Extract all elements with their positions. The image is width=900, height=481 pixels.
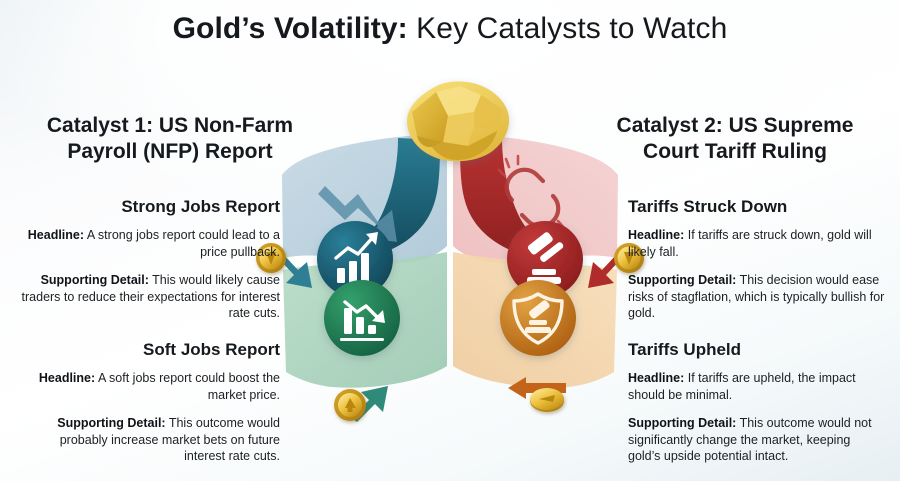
page-title-bold: Gold’s Volatility: (173, 12, 408, 45)
tariffs-struck-down-subheading: Tariffs Struck Down (628, 196, 886, 218)
catalyst-2-heading-line1: Catalyst 2: US Supreme (585, 113, 885, 139)
catalyst-1-heading-line1: Catalyst 1: US Non-Farm (20, 113, 320, 139)
strong-jobs-headline: Headline: A strong jobs report could lea… (18, 227, 280, 260)
strong-jobs-detail-label: Supporting Detail: (41, 273, 149, 287)
gold-nugget (407, 81, 509, 161)
branch-strong-jobs-text: Strong Jobs Report Headline: A strong jo… (18, 196, 280, 334)
strong-jobs-headline-label: Headline: (28, 228, 84, 242)
catalyst-1-heading-line2: Payroll (NFP) Report (20, 139, 320, 165)
coin-flat-right[interactable] (530, 388, 564, 412)
soft-jobs-headline: Headline: A soft jobs report could boost… (18, 370, 280, 403)
icon-circle-tariffs-upheld[interactable] (500, 280, 576, 356)
tariffs-upheld-detail: Supporting Detail: This outcome would no… (628, 415, 886, 465)
tariffs-upheld-headline: Headline: If tariffs are upheld, the imp… (628, 370, 886, 403)
branch-tariffs-struck-down-text: Tariffs Struck Down Headline: If tariffs… (628, 196, 886, 334)
catalyst-1-heading: Catalyst 1: US Non-Farm Payroll (NFP) Re… (20, 113, 320, 165)
catalyst-2-heading-line2: Court Tariff Ruling (585, 139, 885, 165)
branch-tariffs-upheld-text: Tariffs Upheld Headline: If tariffs are … (628, 339, 886, 477)
soft-jobs-detail-label: Supporting Detail: (57, 416, 165, 430)
page-title: Gold’s Volatility: Key Catalysts to Watc… (0, 10, 900, 48)
branch-soft-jobs-text: Soft Jobs Report Headline: A soft jobs r… (18, 339, 280, 477)
tariffs-struck-down-headline: Headline: If tariffs are struck down, go… (628, 227, 886, 260)
coin-up-left[interactable] (334, 389, 366, 421)
catalyst-2-heading: Catalyst 2: US Supreme Court Tariff Ruli… (585, 113, 885, 165)
strong-jobs-detail: Supporting Detail: This would likely cau… (18, 272, 280, 322)
tariffs-struck-down-headline-label: Headline: (628, 228, 684, 242)
tariffs-struck-down-detail-label: Supporting Detail: (628, 273, 736, 287)
tariffs-struck-down-detail: Supporting Detail: This decision would e… (628, 272, 886, 322)
strong-jobs-subheading: Strong Jobs Report (18, 196, 280, 218)
tariffs-upheld-subheading: Tariffs Upheld (628, 339, 886, 361)
soft-jobs-detail: Supporting Detail: This outcome would pr… (18, 415, 280, 465)
soft-jobs-subheading: Soft Jobs Report (18, 339, 280, 361)
icon-circle-soft-jobs[interactable] (324, 280, 400, 356)
tariffs-upheld-headline-label: Headline: (628, 371, 684, 385)
page-title-rest: Key Catalysts to Watch (408, 12, 728, 45)
soft-jobs-headline-text: A soft jobs report could boost the marke… (95, 371, 280, 402)
strong-jobs-headline-text: A strong jobs report could lead to a pri… (84, 228, 280, 259)
tariffs-upheld-detail-label: Supporting Detail: (628, 416, 736, 430)
infographic-canvas: Gold’s Volatility: Key Catalysts to Watc… (0, 0, 900, 481)
soft-jobs-headline-label: Headline: (39, 371, 95, 385)
